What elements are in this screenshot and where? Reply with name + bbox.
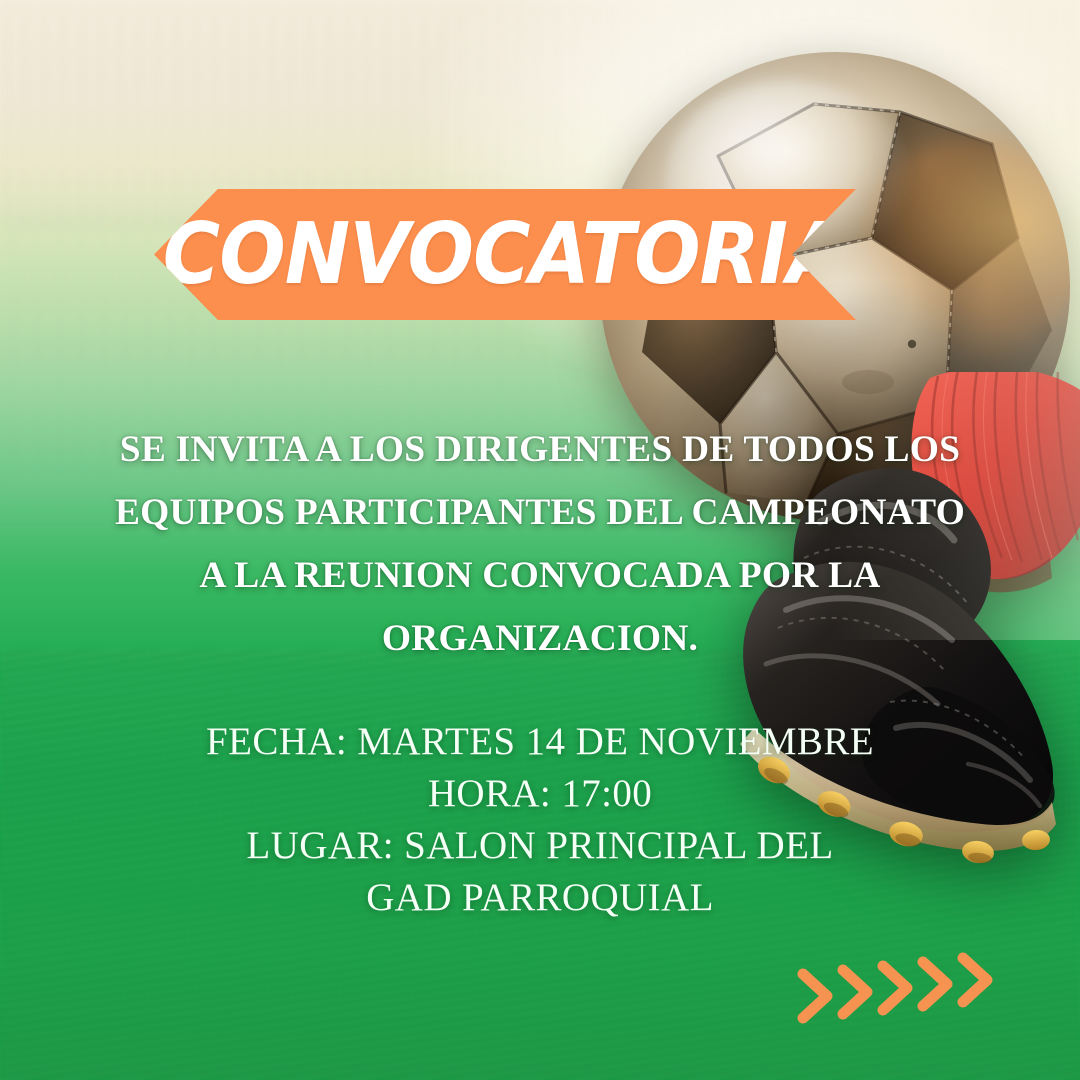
detail-lugar-line-1: LUGAR: SALON PRINCIPAL DEL bbox=[72, 820, 1008, 872]
body-line-4: ORGANIZACION. bbox=[72, 607, 1008, 670]
body-line-1: SE INVITA A LOS DIRIGENTES DE TODOS LOS bbox=[72, 418, 1008, 481]
chevron-right-icon-2 bbox=[843, 970, 867, 1014]
detail-fecha: FECHA: MARTES 14 DE NOVIEMBRE bbox=[72, 716, 1008, 768]
poster-canvas: CONVOCATORIA SE INVITA A LOS DIRIGENTES … bbox=[0, 0, 1080, 1080]
body-line-2: EQUIPOS PARTICIPANTES DEL CAMPEONATO bbox=[72, 481, 1008, 544]
event-details-block: FECHA: MARTES 14 DE NOVIEMBRE HORA: 17:0… bbox=[72, 716, 1008, 924]
invitation-body-text: SE INVITA A LOS DIRIGENTES DE TODOS LOS … bbox=[72, 418, 1008, 670]
poster-title: CONVOCATORIA bbox=[163, 212, 847, 297]
chevron-right-icon-5 bbox=[963, 958, 987, 1002]
title-banner: CONVOCATORIA bbox=[154, 189, 856, 320]
chevron-right-icon-3 bbox=[883, 966, 907, 1010]
chevron-right-icon-4 bbox=[923, 962, 947, 1006]
body-line-3: A LA REUNION CONVOCADA POR LA bbox=[72, 544, 1008, 607]
chevron-arrows-decoration bbox=[795, 952, 1010, 1038]
detail-lugar-line-2: GAD PARROQUIAL bbox=[72, 872, 1008, 924]
chevron-right-icon-1 bbox=[803, 974, 827, 1018]
detail-hora: HORA: 17:00 bbox=[72, 768, 1008, 820]
